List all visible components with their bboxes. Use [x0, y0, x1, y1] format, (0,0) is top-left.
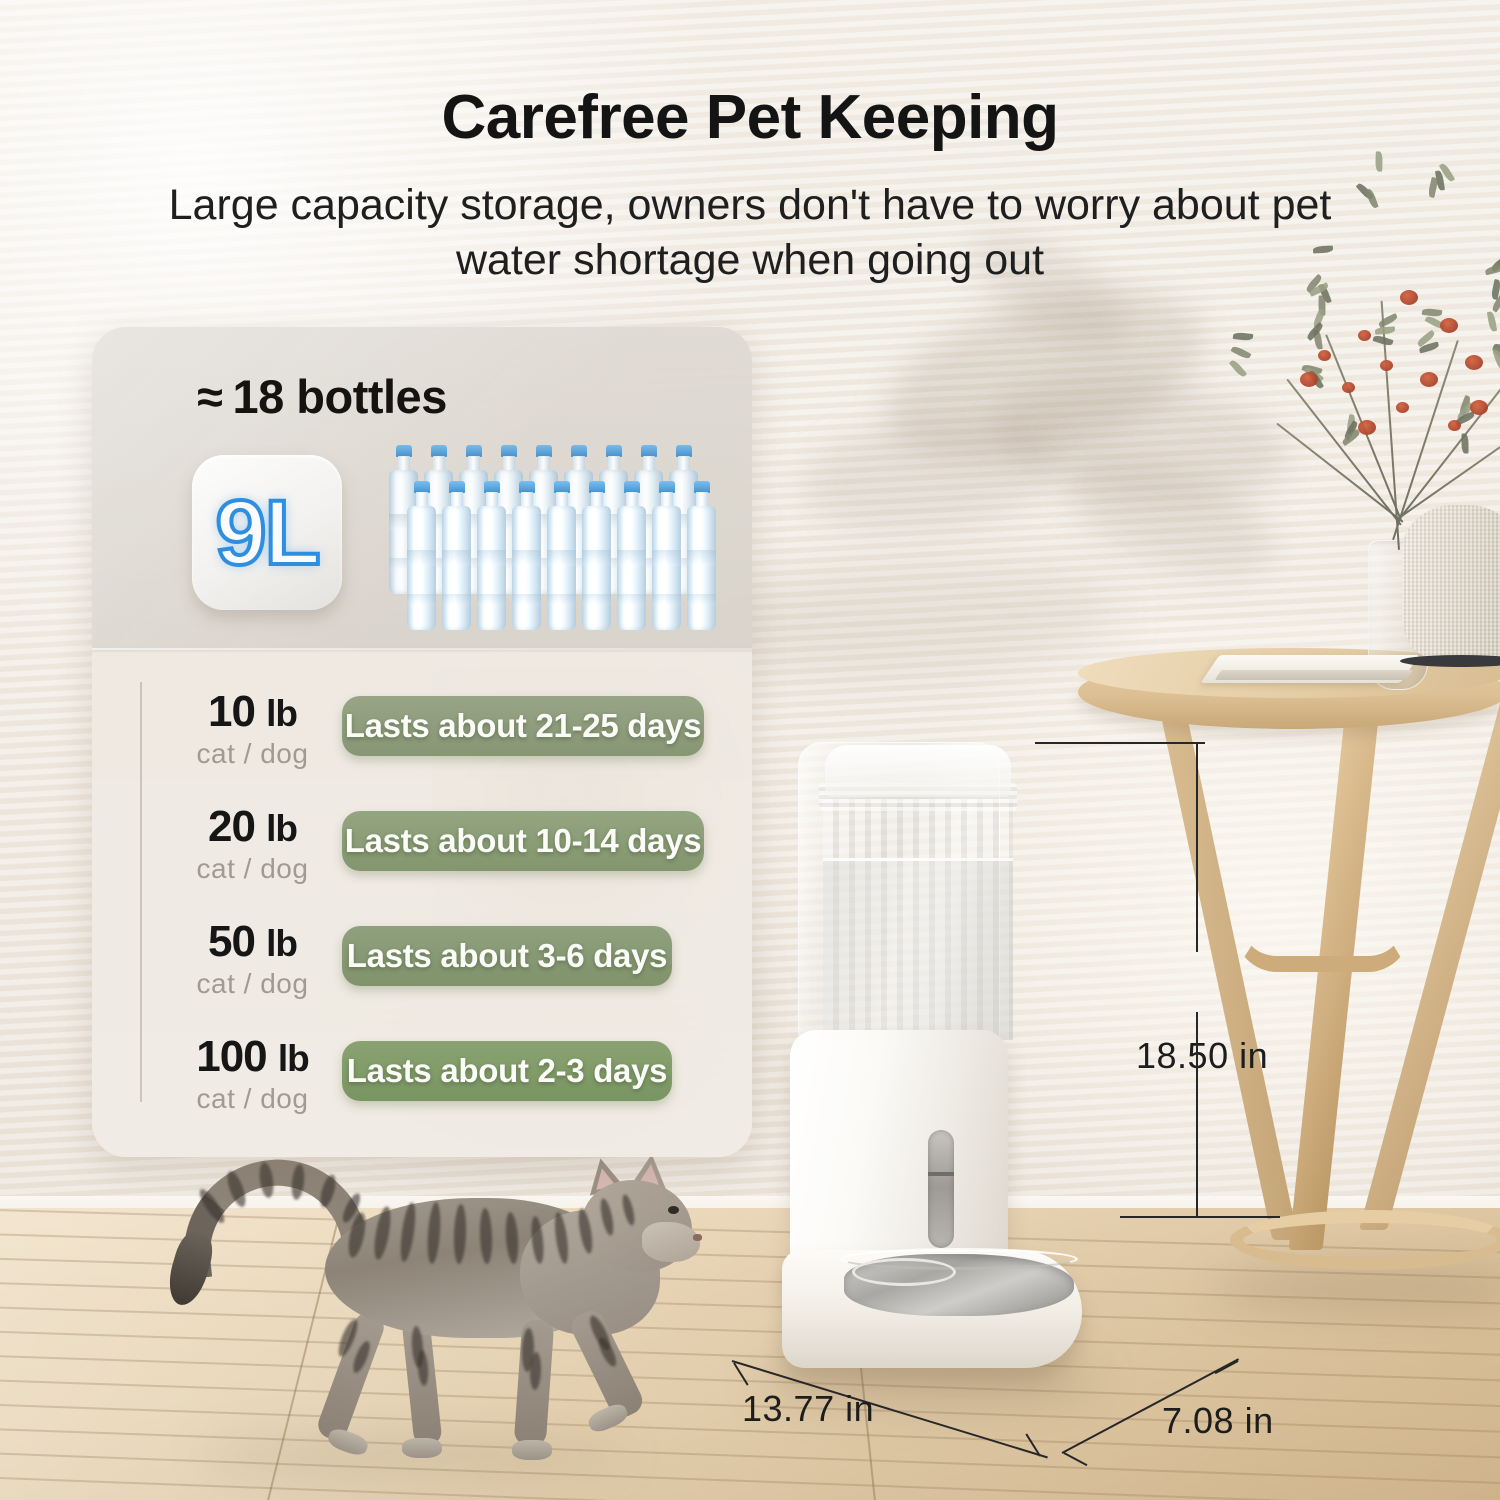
water-bottle — [581, 481, 612, 631]
feeding-duration-table: 10 lbcat / dogLasts about 21-25 days20 l… — [92, 672, 752, 1132]
water-level-window — [928, 1130, 954, 1248]
water-bottle — [651, 481, 682, 631]
duration-badge: Lasts about 21-25 days — [342, 696, 704, 756]
plant-flower — [1400, 290, 1418, 305]
plant-flower — [1300, 372, 1318, 387]
table-row: 20 lbcat / dogLasts about 10-14 days — [92, 787, 752, 902]
weight-value: 100 lb — [160, 1034, 345, 1080]
speaker-mesh — [1402, 505, 1500, 665]
page-title: Carefree Pet Keeping — [0, 82, 1500, 153]
width-label: 13.77 in — [742, 1388, 874, 1430]
water-bottle — [441, 481, 472, 631]
weight-value: 10 lb — [160, 689, 345, 735]
height-tick-top — [1035, 742, 1205, 744]
cat-paw — [586, 1401, 631, 1436]
height-tick-bottom — [1120, 1216, 1280, 1218]
plant-flower — [1448, 420, 1461, 431]
pet-type-label: cat / dog — [160, 738, 345, 770]
page-subtitle: Large capacity storage, owners don't hav… — [0, 178, 1500, 288]
pet-type-label: cat / dog — [160, 968, 345, 1000]
bottle-body — [687, 506, 716, 630]
cat-nose — [693, 1234, 702, 1241]
water-bottle — [406, 481, 437, 631]
plant-flower — [1396, 402, 1409, 413]
row-weight: 50 lbcat / dog — [160, 919, 345, 999]
table-row: 50 lbcat / dogLasts about 3-6 days — [92, 902, 752, 1017]
plant-flower — [1342, 382, 1355, 393]
plant-flower — [1358, 420, 1376, 435]
pet-water-dispenser — [780, 742, 1020, 1382]
table-base-ring — [1230, 1210, 1500, 1270]
row-weight: 10 lbcat / dog — [160, 689, 345, 769]
bottles-equivalence-title: ≈18 bottles — [92, 369, 752, 424]
weight-unit: lb — [266, 808, 297, 849]
duration-badge: Lasts about 2-3 days — [342, 1041, 672, 1101]
bottle-body — [547, 506, 576, 630]
depth-label: 7.08 in — [1162, 1400, 1274, 1442]
row-weight: 20 lbcat / dog — [160, 804, 345, 884]
plant-flower — [1420, 372, 1438, 387]
duration-badge: Lasts about 3-6 days — [342, 926, 672, 986]
bottle-body — [582, 506, 611, 630]
water-bottle — [546, 481, 577, 631]
water-bottle — [511, 481, 542, 631]
cat-illustration — [150, 1150, 710, 1480]
table-row: 100 lbcat / dogLasts about 2-3 days — [92, 1017, 752, 1132]
table-leg-brace — [1235, 930, 1410, 972]
plant-leaf — [1462, 434, 1469, 454]
water-bottles-group — [388, 445, 718, 645]
height-line-upper — [1196, 742, 1198, 952]
capacity-badge: 9L — [192, 455, 342, 610]
plant-flower — [1358, 330, 1371, 341]
smart-speaker — [1402, 505, 1500, 665]
water-bottle — [476, 481, 507, 631]
weight-unit: lb — [266, 923, 297, 964]
weight-unit: lb — [278, 1038, 309, 1079]
water-level-mark — [928, 1172, 954, 1176]
capacity-info-card: ≈18 bottles 9L 10 lbcat / dogLasts about… — [92, 327, 752, 1157]
bowl-inner-ring — [852, 1258, 956, 1286]
capacity-badge-label: 9L — [215, 487, 318, 579]
plant-flower — [1318, 350, 1331, 361]
bottles-count-label: 18 bottles — [232, 370, 446, 423]
bottle-body — [407, 506, 436, 630]
plant-flower — [1465, 355, 1483, 370]
cat-paw — [512, 1440, 552, 1460]
book-pages — [1215, 670, 1414, 680]
weight-unit: lb — [266, 693, 297, 734]
card-divider — [92, 648, 752, 650]
plant-flower — [1380, 360, 1393, 371]
tank-water-level — [823, 858, 1013, 1040]
bottle-body — [442, 506, 471, 630]
plant-flower — [1470, 400, 1488, 415]
height-label: 18.50 in — [1136, 1035, 1268, 1077]
bottle-body — [652, 506, 681, 630]
height-line-lower — [1196, 1012, 1198, 1218]
weight-value: 50 lb — [160, 919, 345, 965]
cat-muzzle — [642, 1222, 700, 1262]
approximately-icon: ≈ — [197, 370, 222, 423]
cat-paw — [402, 1438, 442, 1458]
bottle-body — [477, 506, 506, 630]
table-row: 10 lbcat / dogLasts about 21-25 days — [92, 672, 752, 787]
tank-lid — [825, 745, 1011, 797]
weight-value: 20 lb — [160, 804, 345, 850]
plant-flower — [1440, 318, 1458, 333]
bottle-body — [617, 506, 646, 630]
row-weight: 100 lbcat / dog — [160, 1034, 345, 1114]
water-bottle — [616, 481, 647, 631]
cat-eye — [668, 1206, 679, 1214]
water-bottle — [686, 481, 717, 631]
bottle-body — [512, 506, 541, 630]
water-tank — [798, 742, 1000, 1042]
duration-badge: Lasts about 10-14 days — [342, 811, 704, 871]
pet-type-label: cat / dog — [160, 1083, 345, 1115]
cat-paw — [326, 1426, 370, 1458]
pet-type-label: cat / dog — [160, 853, 345, 885]
